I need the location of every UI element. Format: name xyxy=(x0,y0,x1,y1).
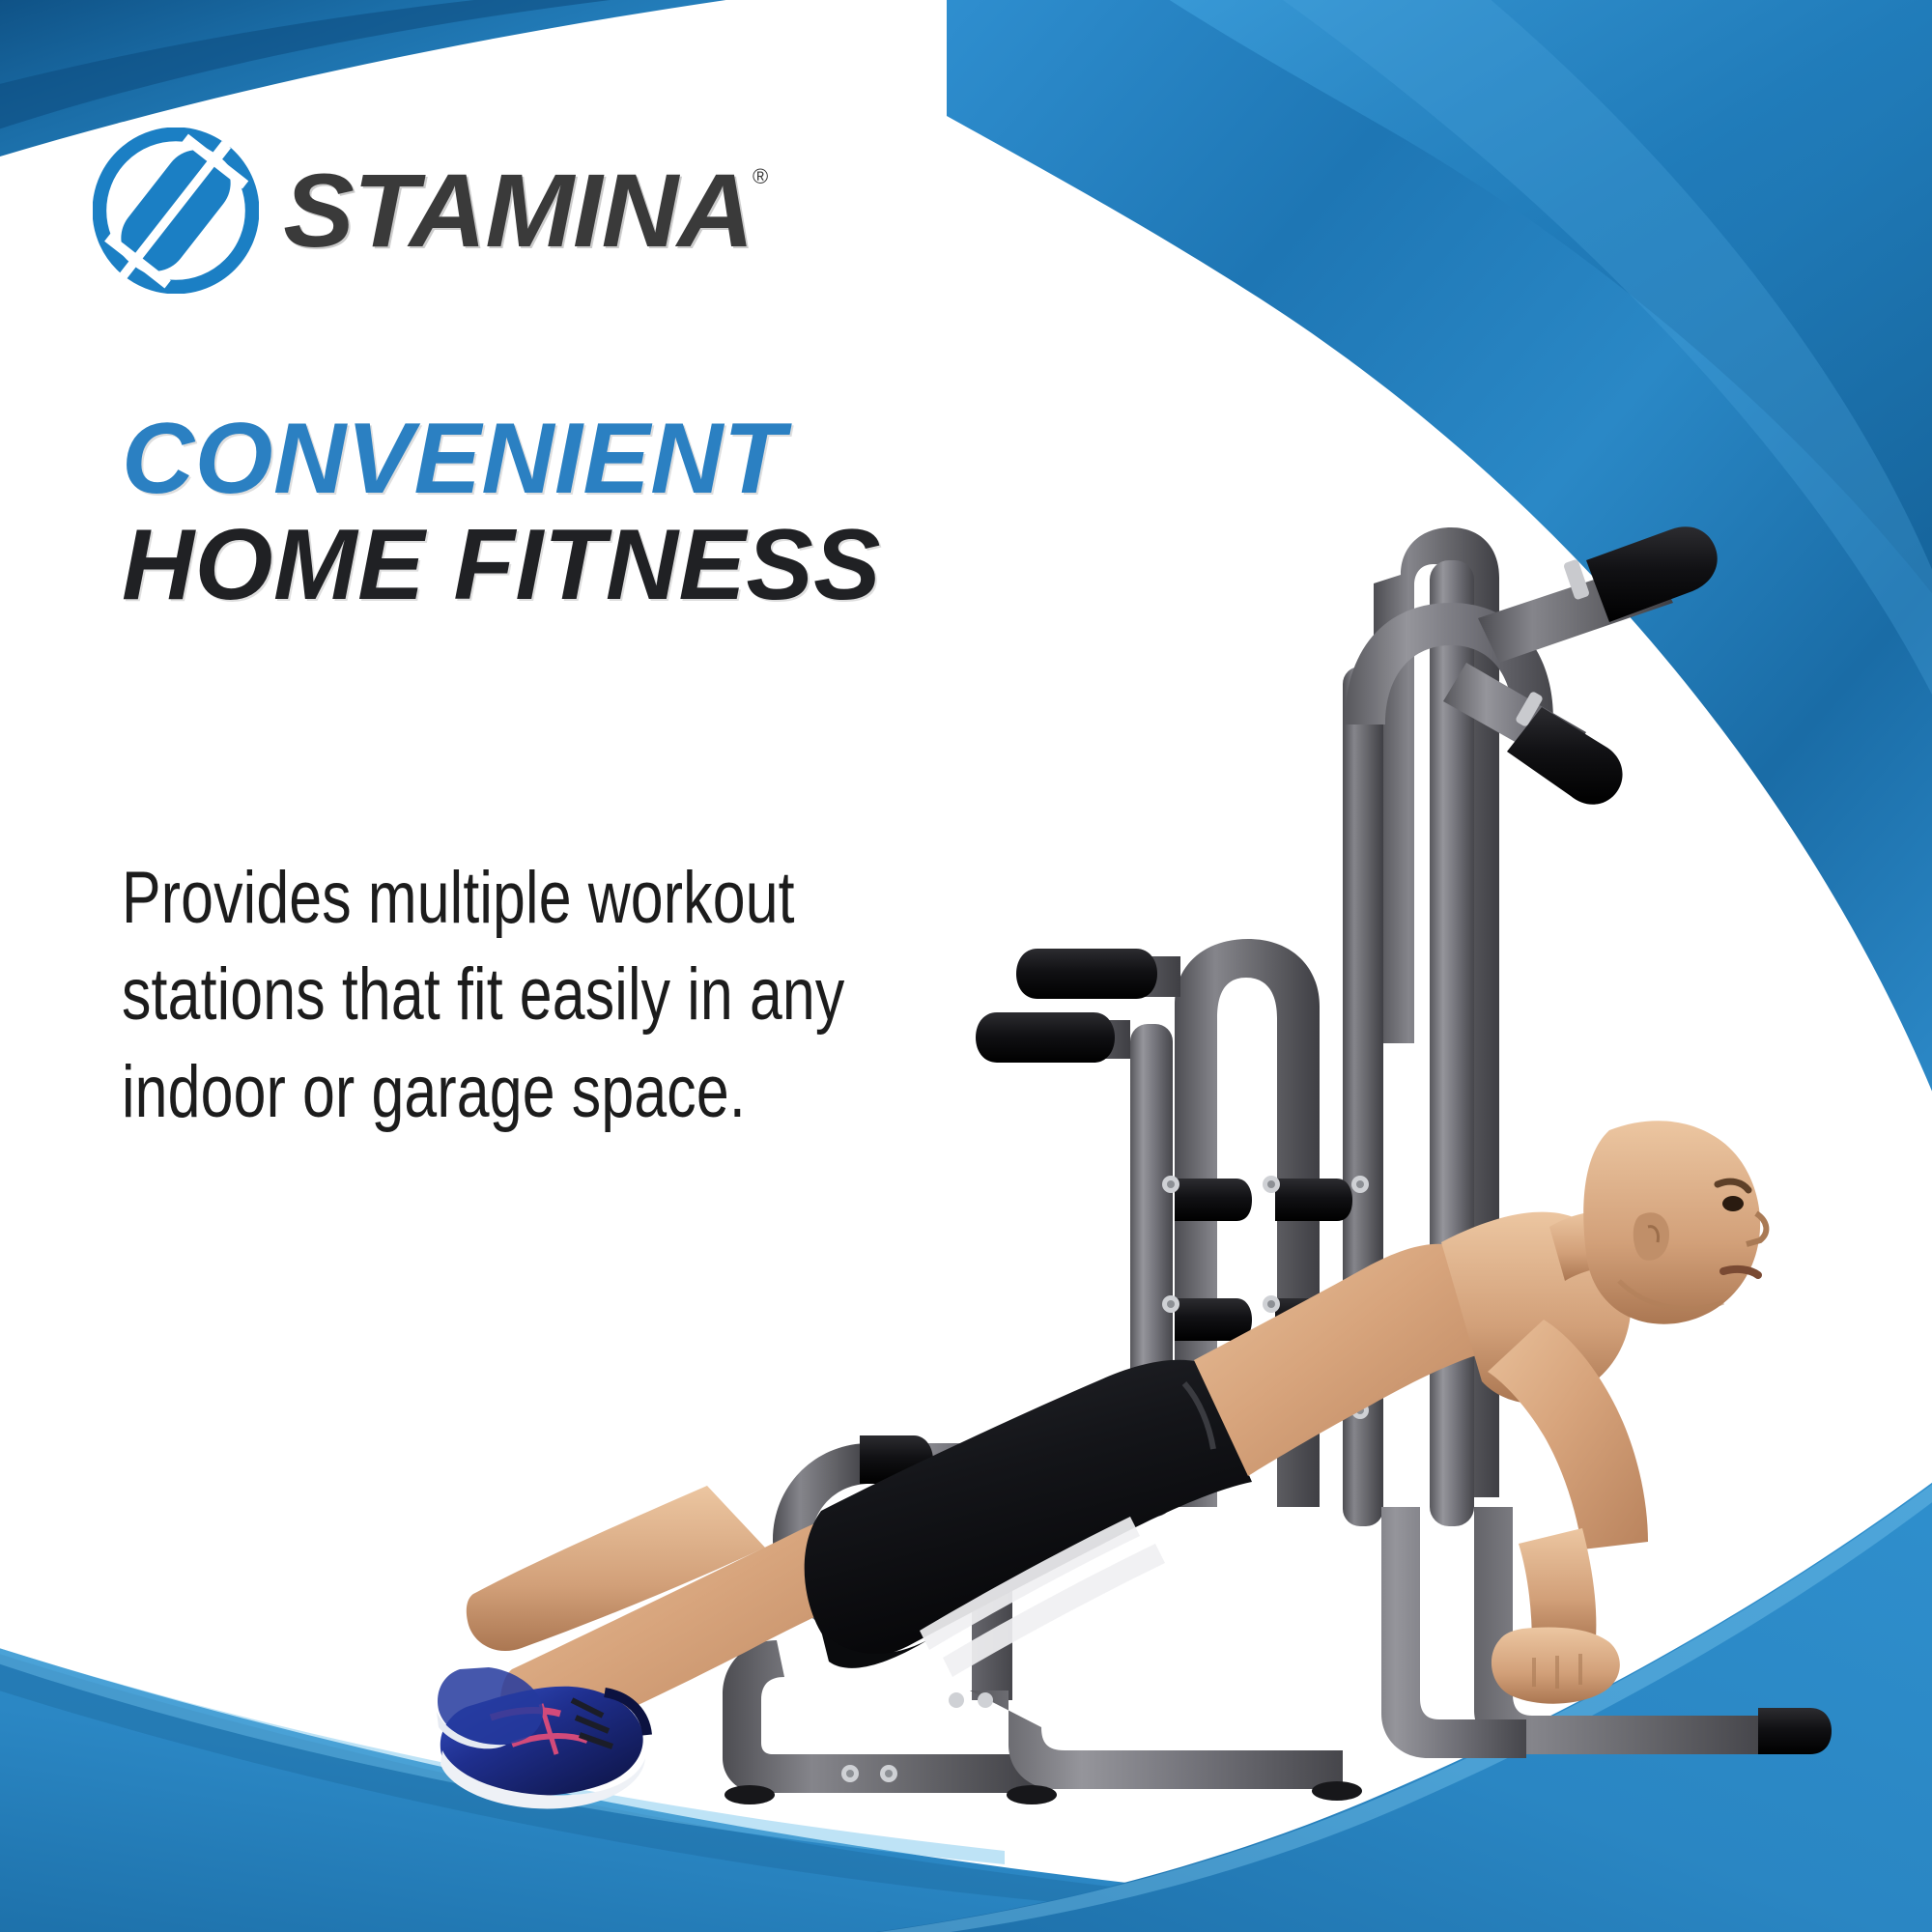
registered-trademark-symbol: ® xyxy=(753,164,768,189)
headline-line-1: CONVENIENT xyxy=(122,406,1088,512)
model-figure xyxy=(437,1121,1766,1808)
power-tower-and-model-illustration xyxy=(367,502,1874,1835)
marketing-banner: STAMINA ® CONVENIENT HOME FITNESS Provid… xyxy=(0,0,1932,1932)
brand-wordmark: STAMINA ® xyxy=(288,158,768,263)
product-photo xyxy=(367,502,1874,1835)
brand-name-text: STAMINA xyxy=(283,158,753,263)
stamina-circle-slash-logo-icon xyxy=(93,128,259,294)
brand-logo: STAMINA ® xyxy=(93,128,768,294)
